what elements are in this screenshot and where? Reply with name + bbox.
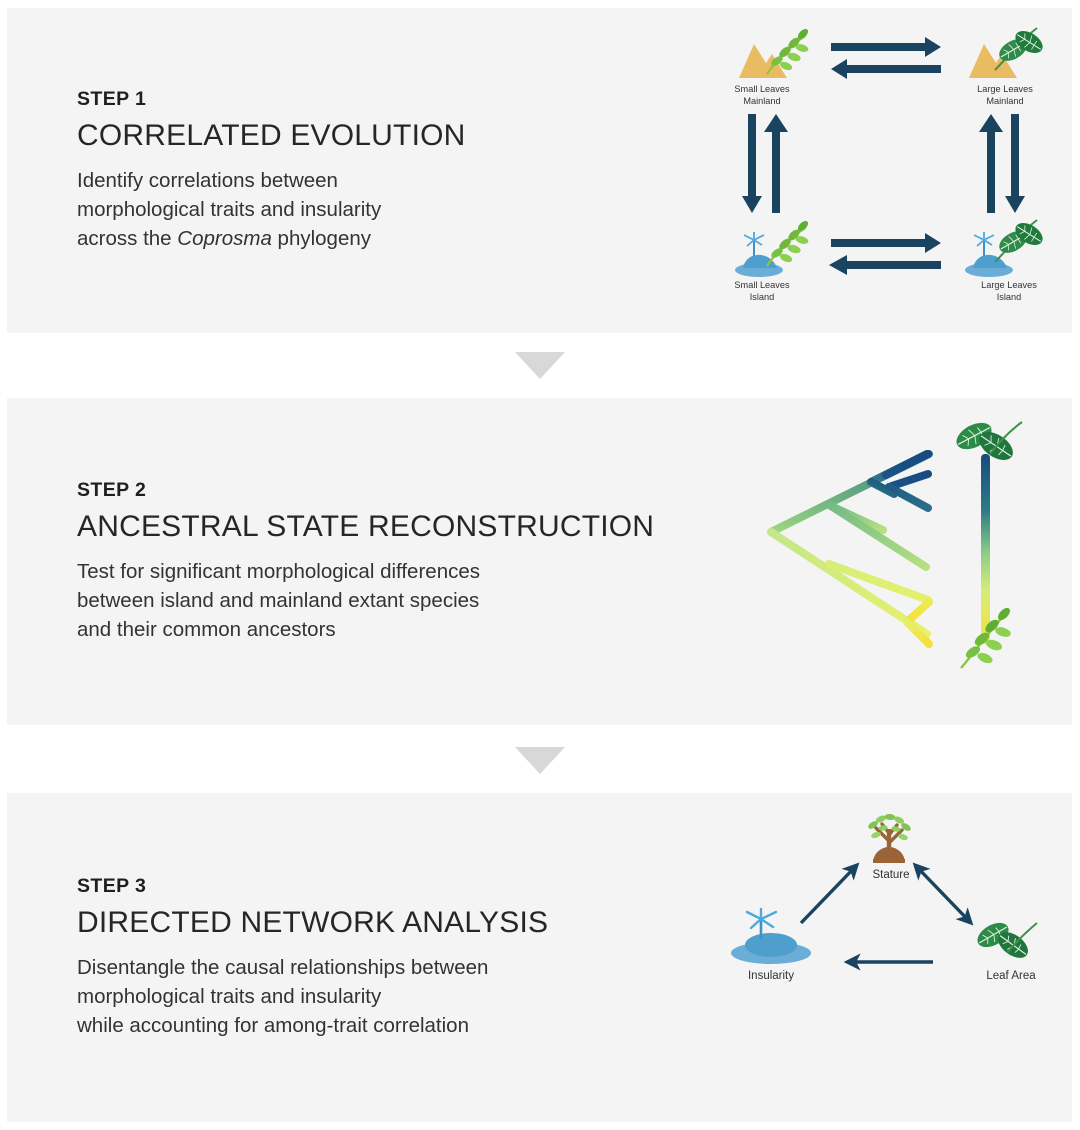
- step-2-title: ANCESTRAL STATE RECONSTRUCTION: [77, 511, 697, 543]
- network-node-insularity: Insularity: [731, 909, 811, 982]
- step-3-desc-line-1: Disentangle the causal relationships bet…: [77, 953, 697, 982]
- transition-small-mainland-to-large-mainland: [831, 37, 941, 57]
- island-icon: [731, 909, 811, 964]
- branch-tip-2: [889, 474, 928, 487]
- step-3-desc-line-2: morphological traits and insularity: [77, 982, 697, 1011]
- arrow-right-icon: [831, 37, 941, 57]
- step-1-text-column: STEP 1 CORRELATED EVOLUTION Identify cor…: [7, 88, 697, 253]
- transition-small-island-to-large-island: [831, 233, 941, 253]
- large-leaves-icon: [973, 918, 1037, 963]
- step-2-kicker: STEP 2: [77, 479, 697, 502]
- edge-insularity-to-stature: [801, 865, 857, 923]
- step-2-diagram: [697, 398, 1072, 725]
- transition-large-mainland-to-small-mainland: [831, 59, 941, 79]
- branch-lower-main: [771, 532, 927, 634]
- branch-tip-5: [831, 506, 926, 567]
- node-label: Island: [750, 292, 775, 302]
- step-1-desc-line-3-post: phylogeny: [272, 227, 371, 250]
- arrow-up-icon: [979, 114, 1003, 213]
- figure-root: STEP 1 CORRELATED EVOLUTION Identify cor…: [0, 0, 1080, 1130]
- colorbar-gradient: [981, 454, 990, 644]
- step-2-desc-line-2: between island and mainland extant speci…: [77, 586, 697, 615]
- step-2-text-column: STEP 2 ANCESTRAL STATE RECONSTRUCTION Te…: [7, 479, 697, 644]
- arrow-left-icon: [829, 255, 941, 275]
- step-2-desc-line-1: Test for significant morphological diffe…: [77, 557, 697, 586]
- node-large-leaves-mainland: Large Leaves Mainland: [969, 26, 1046, 106]
- step-3-kicker: STEP 3: [77, 875, 697, 898]
- step-1-kicker: STEP 1: [77, 88, 697, 111]
- network-node-leaf-area: Leaf Area: [973, 918, 1037, 982]
- arrow-down-icon: [1005, 114, 1025, 213]
- node-label: Mainland: [986, 96, 1023, 106]
- node-small-leaves-island: Small Leaves Island: [734, 219, 809, 302]
- node-label: Small Leaves: [734, 280, 790, 290]
- node-large-leaves-island: Large Leaves Island: [965, 218, 1046, 302]
- arrow-down-icon: [742, 114, 762, 213]
- trait-colorbar: [952, 417, 1022, 668]
- large-leaves-icon: [995, 218, 1046, 262]
- step-2-desc-line-3: and their common ancestors: [77, 615, 697, 644]
- genus-name-coprosma: Coprosma: [177, 227, 272, 250]
- edge-stature-leaf-area-bidirectional: [915, 865, 971, 923]
- step-3-desc-line-3: while accounting for among-trait correla…: [77, 1011, 697, 1040]
- network-node-stature: Stature: [867, 813, 912, 881]
- node-label: Island: [997, 292, 1022, 302]
- tree-icon: [867, 813, 912, 863]
- step-2-panel: STEP 2 ANCESTRAL STATE RECONSTRUCTION Te…: [7, 398, 1072, 725]
- step-1-panel: STEP 1 CORRELATED EVOLUTION Identify cor…: [7, 8, 1072, 333]
- step-1-desc-line-1: Identify correlations between: [77, 166, 697, 195]
- transition-large-mainland-to-large-island: [1005, 114, 1025, 213]
- arrow-left-icon: [831, 59, 941, 79]
- step-3-text-column: STEP 3 DIRECTED NETWORK ANALYSIS Disenta…: [7, 875, 697, 1040]
- network-node-label: Stature: [872, 869, 909, 881]
- small-leaves-icon: [767, 219, 810, 266]
- node-label: Small Leaves: [734, 84, 790, 94]
- step-separator-2: [0, 743, 1080, 777]
- transition-large-island-to-large-mainland: [979, 114, 1003, 213]
- transition-large-island-to-small-island: [829, 255, 941, 275]
- transition-small-mainland-to-small-island: [742, 114, 762, 213]
- node-small-leaves-mainland: Small Leaves Mainland: [734, 27, 809, 106]
- step-1-desc-line-3-pre: across the: [77, 227, 177, 250]
- node-label: Mainland: [743, 96, 780, 106]
- step-3-title: DIRECTED NETWORK ANALYSIS: [77, 907, 697, 939]
- step-3-diagram: Stature Insularity Leaf Area: [697, 793, 1072, 1122]
- step-1-desc-line-2: morphological traits and insularity: [77, 195, 697, 224]
- triangle-down-icon: [515, 747, 565, 774]
- step-1-diagram: Small Leaves Mainland Large Leaves Mainl…: [697, 8, 1072, 333]
- network-node-label: Insularity: [748, 970, 794, 982]
- step-2-description: Test for significant morphological diffe…: [77, 557, 697, 644]
- branch-yellow-fork-up: [907, 602, 929, 622]
- transition-small-island-to-small-mainland: [764, 114, 788, 213]
- arrow-up-icon: [764, 114, 788, 213]
- network-node-label: Leaf Area: [986, 970, 1036, 982]
- step-1-description: Identify correlations between morphologi…: [77, 166, 697, 253]
- step-3-description: Disentangle the causal relationships bet…: [77, 953, 697, 1040]
- step-3-panel: STEP 3 DIRECTED NETWORK ANALYSIS Disenta…: [7, 793, 1072, 1122]
- step-1-desc-line-3: across the Coprosma phylogeny: [77, 224, 697, 253]
- phylogeny-branches: [719, 454, 929, 644]
- node-label: Large Leaves: [981, 280, 1037, 290]
- step-separator-1: [0, 348, 1080, 382]
- step-1-title: CORRELATED EVOLUTION: [77, 120, 697, 152]
- arrow-right-icon: [831, 233, 941, 253]
- node-label: Large Leaves: [977, 84, 1033, 94]
- triangle-down-icon: [515, 352, 565, 379]
- branch-tip-1: [886, 454, 928, 475]
